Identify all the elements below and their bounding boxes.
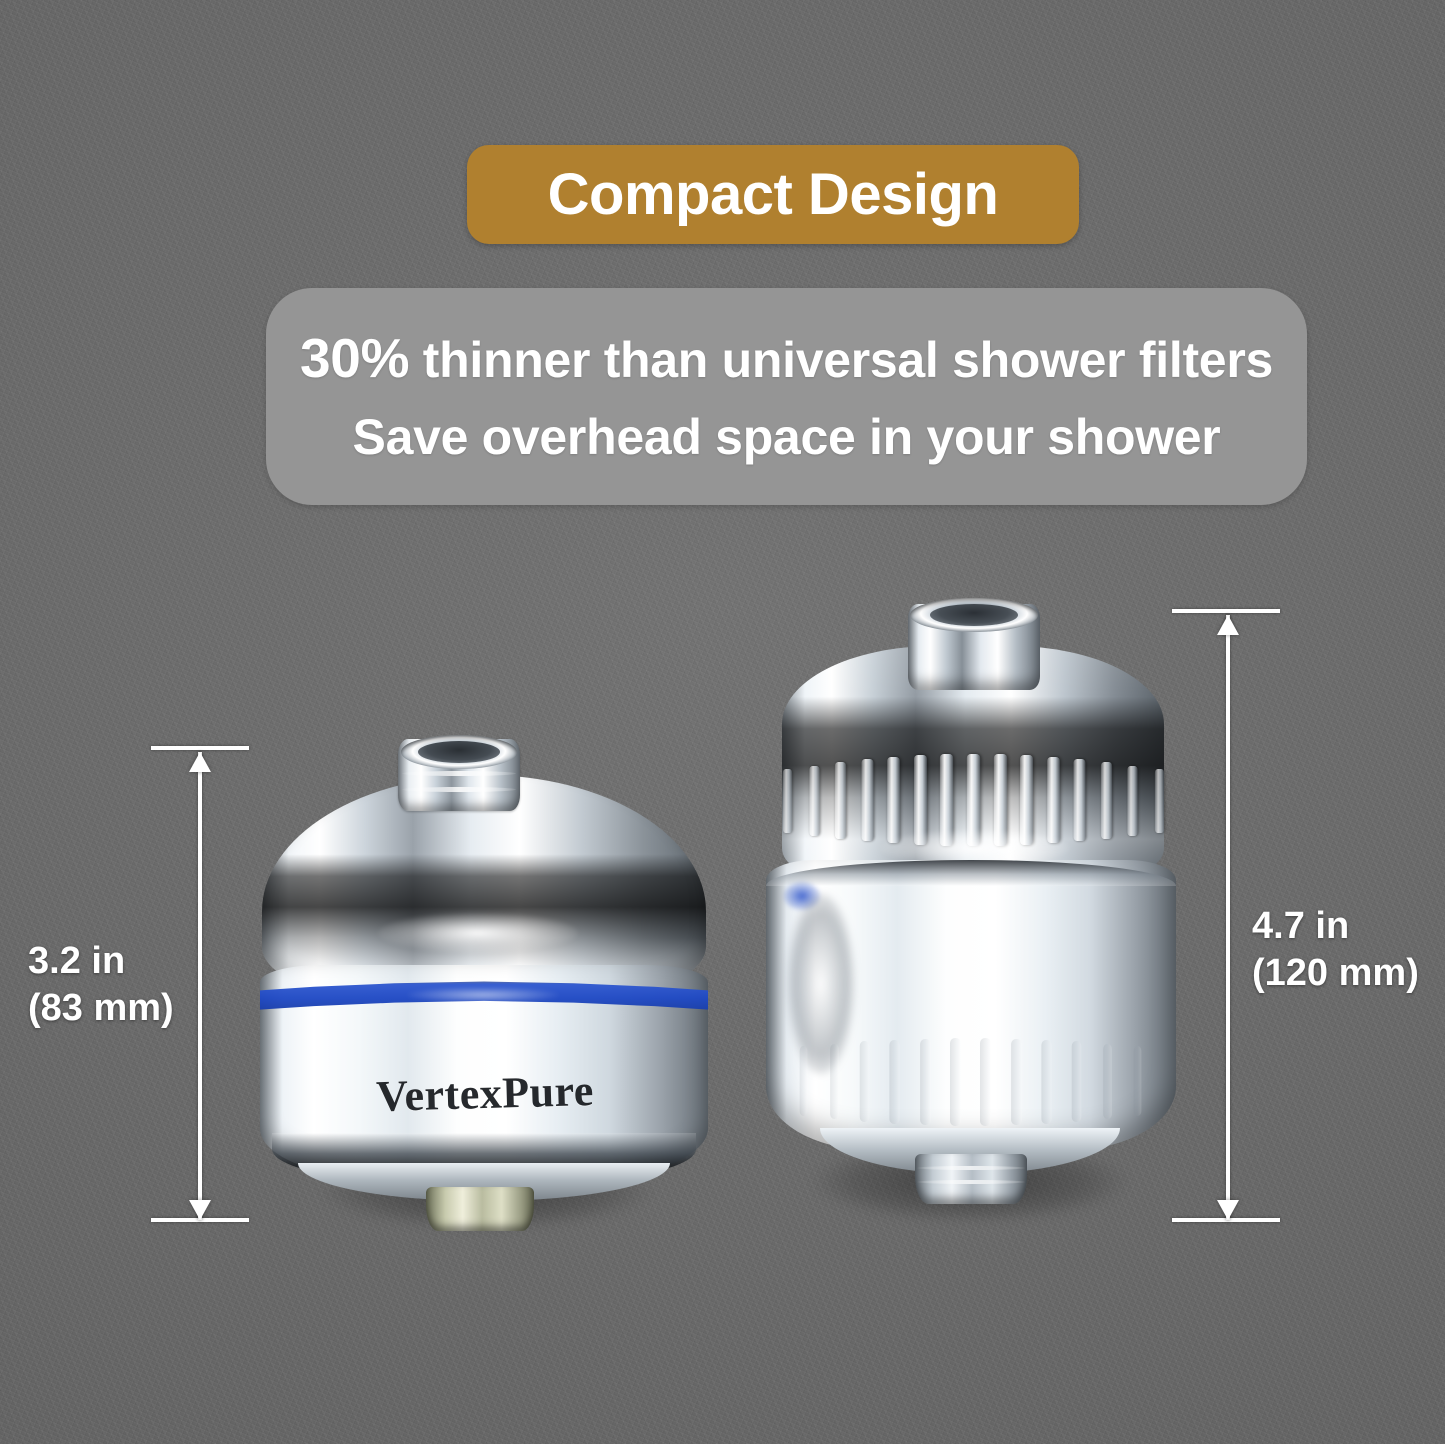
product-right-body-flute (1011, 1039, 1022, 1126)
subtitle-panel: 30% thinner than universal shower filter… (266, 288, 1307, 505)
product-left-outlet-thread (426, 1187, 534, 1231)
product-right-body-flute (950, 1038, 961, 1126)
product-image-compact-filter: VertexPure (258, 735, 714, 1235)
product-image-universal-filter (760, 594, 1180, 1234)
product-left-brand-label: VertexPure (299, 1063, 670, 1124)
product-right-cap-rib (1101, 762, 1112, 839)
dimension-left-millimeters: (83 mm) (28, 985, 174, 1032)
subtitle-percent: 30% (300, 327, 409, 389)
infographic-canvas: Compact Design 30% thinner than universa… (0, 0, 1445, 1444)
product-right-cap-rib (861, 759, 873, 841)
product-right-body-flute (1072, 1041, 1082, 1121)
dimension-right-arrowhead-up-icon (1217, 615, 1239, 635)
product-right-outlet-thread-line (917, 1166, 1025, 1170)
product-right-body-flute (920, 1039, 931, 1126)
dimension-left-arrow-shaft (198, 752, 202, 1220)
product-right-cap-rib (1074, 759, 1086, 841)
product-left-inlet-thread (402, 771, 516, 776)
dimension-right-arrowhead-down-icon (1217, 1200, 1239, 1220)
dimension-right-millimeters: (120 mm) (1252, 950, 1419, 997)
title-badge: Compact Design (467, 145, 1079, 244)
product-right-body-flute (830, 1044, 839, 1119)
dimension-left-inches: 3.2 in (28, 938, 174, 985)
dimension-left-arrowhead-up-icon (189, 752, 211, 772)
product-right-body-flute (890, 1040, 900, 1124)
product-left-dome-highlight (378, 913, 578, 953)
product-right-cap-rib (888, 757, 901, 843)
product-right-cap-rib (809, 766, 819, 837)
product-right-body-flute (1041, 1040, 1051, 1124)
product-right-cap-rib (1047, 757, 1060, 843)
product-right-body-flutes (788, 1032, 1152, 1140)
dimension-left-tick-top (151, 746, 249, 750)
dimension-left-label: 3.2 in (83 mm) (28, 938, 174, 1032)
product-right-body-flute (980, 1038, 991, 1126)
product-right-body-flute (800, 1046, 808, 1116)
product-left-inlet-thread (402, 787, 516, 792)
subtitle-line-2: Save overhead space in your shower (353, 412, 1221, 462)
dimension-right-label: 4.7 in (120 mm) (1252, 903, 1419, 997)
product-right-inlet-bore (930, 604, 1018, 626)
product-right-cap-rib (835, 762, 846, 839)
subtitle-line-1-rest: thinner than universal shower filters (409, 332, 1273, 388)
product-right-outlet-thread (915, 1154, 1027, 1204)
product-right-cap-rib (1155, 769, 1164, 833)
product-right-body-flute (1133, 1046, 1141, 1116)
product-left-inlet-bore (418, 741, 500, 763)
product-right-body-flute (1103, 1044, 1112, 1119)
product-right-cap-rib (783, 769, 792, 833)
subtitle-line-1: 30% thinner than universal shower filter… (300, 331, 1273, 386)
dimension-right-tick-top (1172, 609, 1280, 613)
page-title: Compact Design (548, 166, 999, 224)
dimension-right-inches: 4.7 in (1252, 903, 1419, 950)
product-right-cap-rib (914, 755, 927, 844)
product-right-body-flute (860, 1041, 870, 1121)
product-right-cap-rib (1128, 766, 1138, 837)
dimension-left-arrowhead-down-icon (189, 1200, 211, 1220)
dimension-right-arrow-shaft (1226, 615, 1230, 1220)
product-right-outlet-thread-line (917, 1180, 1025, 1184)
product-left-stripe-gloss (408, 987, 558, 1003)
